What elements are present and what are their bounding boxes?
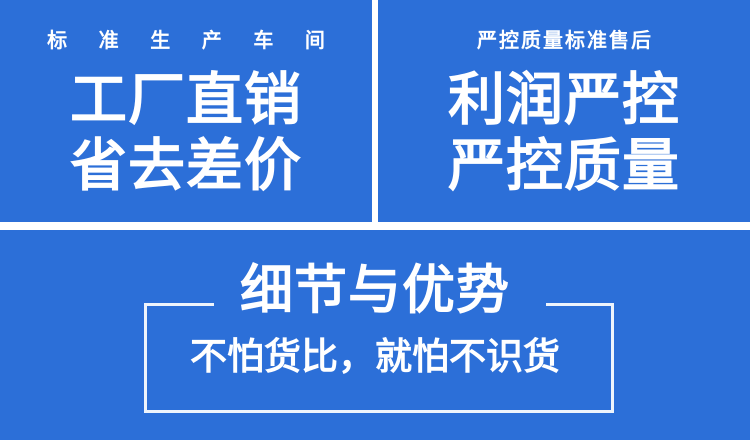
panel-right-headline-line1: 利润严控 <box>448 67 680 133</box>
panel-details-advantages: 细节与优势 不怕货比，就怕不识货 <box>0 230 750 440</box>
panel-right-headline-line2: 严控质量 <box>448 133 680 199</box>
promo-banner: 标 准 生 产 车 间 工厂直销 省去差价 严控质量标准售后 利润严控 严控质量… <box>0 0 750 440</box>
top-panel-row: 标 准 生 产 车 间 工厂直销 省去差价 严控质量标准售后 利润严控 严控质量 <box>0 0 750 222</box>
panel-left-headline-line1: 工厂直销 <box>70 67 302 133</box>
bottom-panel-title: 细节与优势 <box>0 264 750 317</box>
panel-factory-direct: 标 准 生 产 车 间 工厂直销 省去差价 <box>0 0 372 222</box>
bottom-panel-subtitle: 不怕货比，就怕不识货 <box>0 338 750 375</box>
panel-left-headline-line2: 省去差价 <box>70 133 302 199</box>
panel-right-eyebrow: 严控质量标准售后 <box>475 31 653 51</box>
panel-left-eyebrow: 标 准 生 产 车 间 <box>34 31 338 51</box>
panel-quality-control: 严控质量标准售后 利润严控 严控质量 <box>378 0 750 222</box>
